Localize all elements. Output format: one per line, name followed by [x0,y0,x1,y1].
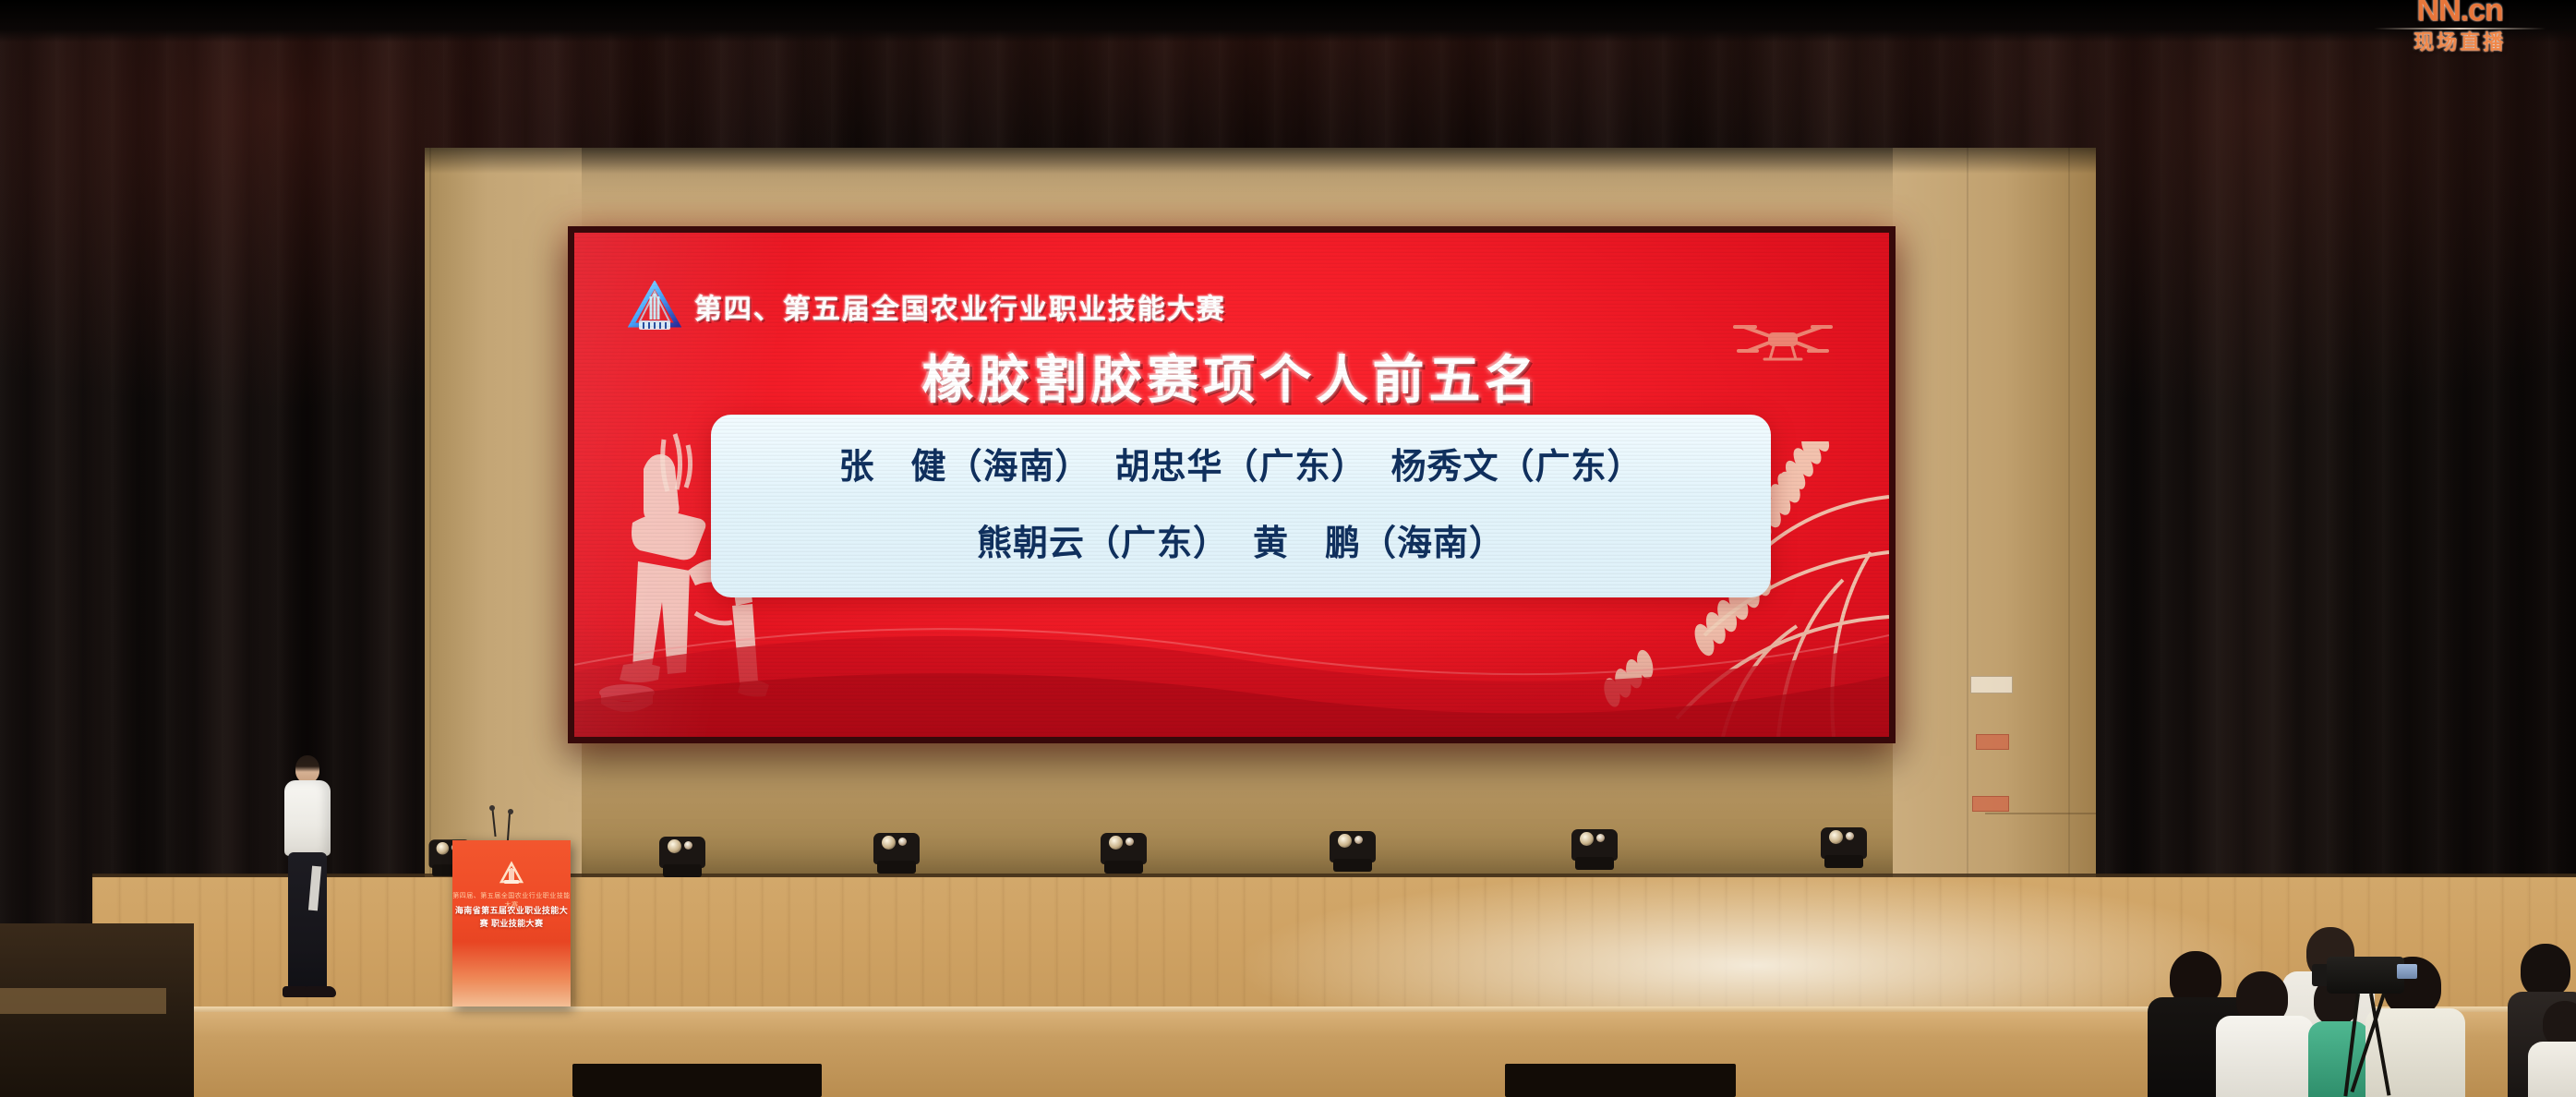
broadcast-watermark: NN.cn 现场直播 [2345,0,2574,52]
person-head [2543,1001,2576,1047]
led-header-text: 第四、第五届全国农业行业职业技能大赛 [694,286,1226,327]
stage-light [1819,811,1869,868]
microphone-head [489,805,495,811]
winner-region: （海南） [946,448,1090,487]
wall-sign-info [1972,796,2009,812]
winner-name: 张 健 [838,448,946,487]
audience-and-crew [2151,923,2576,1097]
watermark-channel: NN.cn [2345,0,2574,26]
podium: 第四届、第五届全国农业行业职业技能大赛 海南省第五届农业职业技能大赛 职业技能大… [452,840,571,1016]
winner-row: 熊朝云（广东） 黄 鹏（海南） [965,519,1517,570]
podium-body: 第四届、第五届全国农业行业职业技能大赛 海南省第五届农业职业技能大赛 职业技能大… [452,840,571,1007]
podium-light-glow [452,942,571,1007]
winner-entry: 熊朝云（广东） [977,519,1229,570]
competition-triangle-emblem-icon [499,861,524,886]
winner-name: 熊朝云 [977,524,1085,563]
wall-seam-c [429,148,431,877]
person-shirt [284,780,331,856]
person-body [2216,1016,2314,1097]
staff-member-standing [277,755,336,1023]
wall-panel-line [1985,813,2096,814]
stage-light [1099,816,1149,874]
podium-title: 海南省第五届农业职业技能大赛 职业技能大赛 [452,905,571,930]
winner-region: （海南） [1361,524,1505,563]
winner-region: （广东） [1085,524,1229,563]
wall-seam-b [2068,148,2070,877]
wall-sign-exit [1970,676,2013,693]
stage-left-step [0,988,166,1014]
winner-entry: 张 健（海南） [838,442,1090,493]
person-trousers [288,852,327,991]
led-display: 第四、第五届全国农业行业职业技能大赛 [568,226,1896,743]
wall-top-shadow [425,148,2096,174]
winner-name: 胡忠华 [1114,448,1222,487]
apron-vent [572,1064,822,1097]
led-title-text: 橡胶割胶赛项个人前五名 [574,339,1889,414]
winner-row: 张 健（海南） 胡忠华（广东） 杨秀文（广东） [826,442,1655,493]
person-body [2528,1042,2576,1097]
broadcast-camera-on-tripod [2327,957,2404,994]
stage-light [657,820,707,877]
wall-seam-a [1967,148,1968,877]
microphone-head [508,809,513,814]
person-shoe [305,986,336,997]
winner-entry: 黄 鹏（海南） [1253,519,1505,570]
winner-region: （广东） [1499,448,1643,487]
stage-light [872,816,921,874]
watermark-caption: 现场直播 [2345,31,2574,53]
stage-scene: 第四、第五届全国农业行业职业技能大赛 [0,0,2576,1097]
led-content: 第四、第五届全国农业行业职业技能大赛 [574,233,1889,737]
person-head [2521,944,2570,997]
winner-entry: 杨秀文（广东） [1391,442,1643,493]
apron-vent [1505,1064,1736,1097]
stage-light [1328,814,1378,872]
wall-right-column [1893,148,2096,877]
winners-panel: 张 健（海南） 胡忠华（广东） 杨秀文（广东） 熊朝云（广东） 黄 鹏（海南） [711,415,1771,597]
ceiling-shadow [0,0,2576,42]
person-head [295,755,319,783]
watermark-divider [2374,28,2546,30]
winner-region: （广东） [1223,448,1367,487]
stage-light [1570,813,1619,870]
winner-name: 杨秀文 [1391,448,1499,487]
wall-sign-notice [1976,734,2009,750]
wall-left-column [425,148,582,877]
winner-name: 黄 鹏 [1253,524,1361,563]
competition-triangle-emblem-icon [628,281,681,334]
camera-viewfinder-screen [2397,964,2417,979]
winner-entry: 胡忠华（广东） [1114,442,1366,493]
